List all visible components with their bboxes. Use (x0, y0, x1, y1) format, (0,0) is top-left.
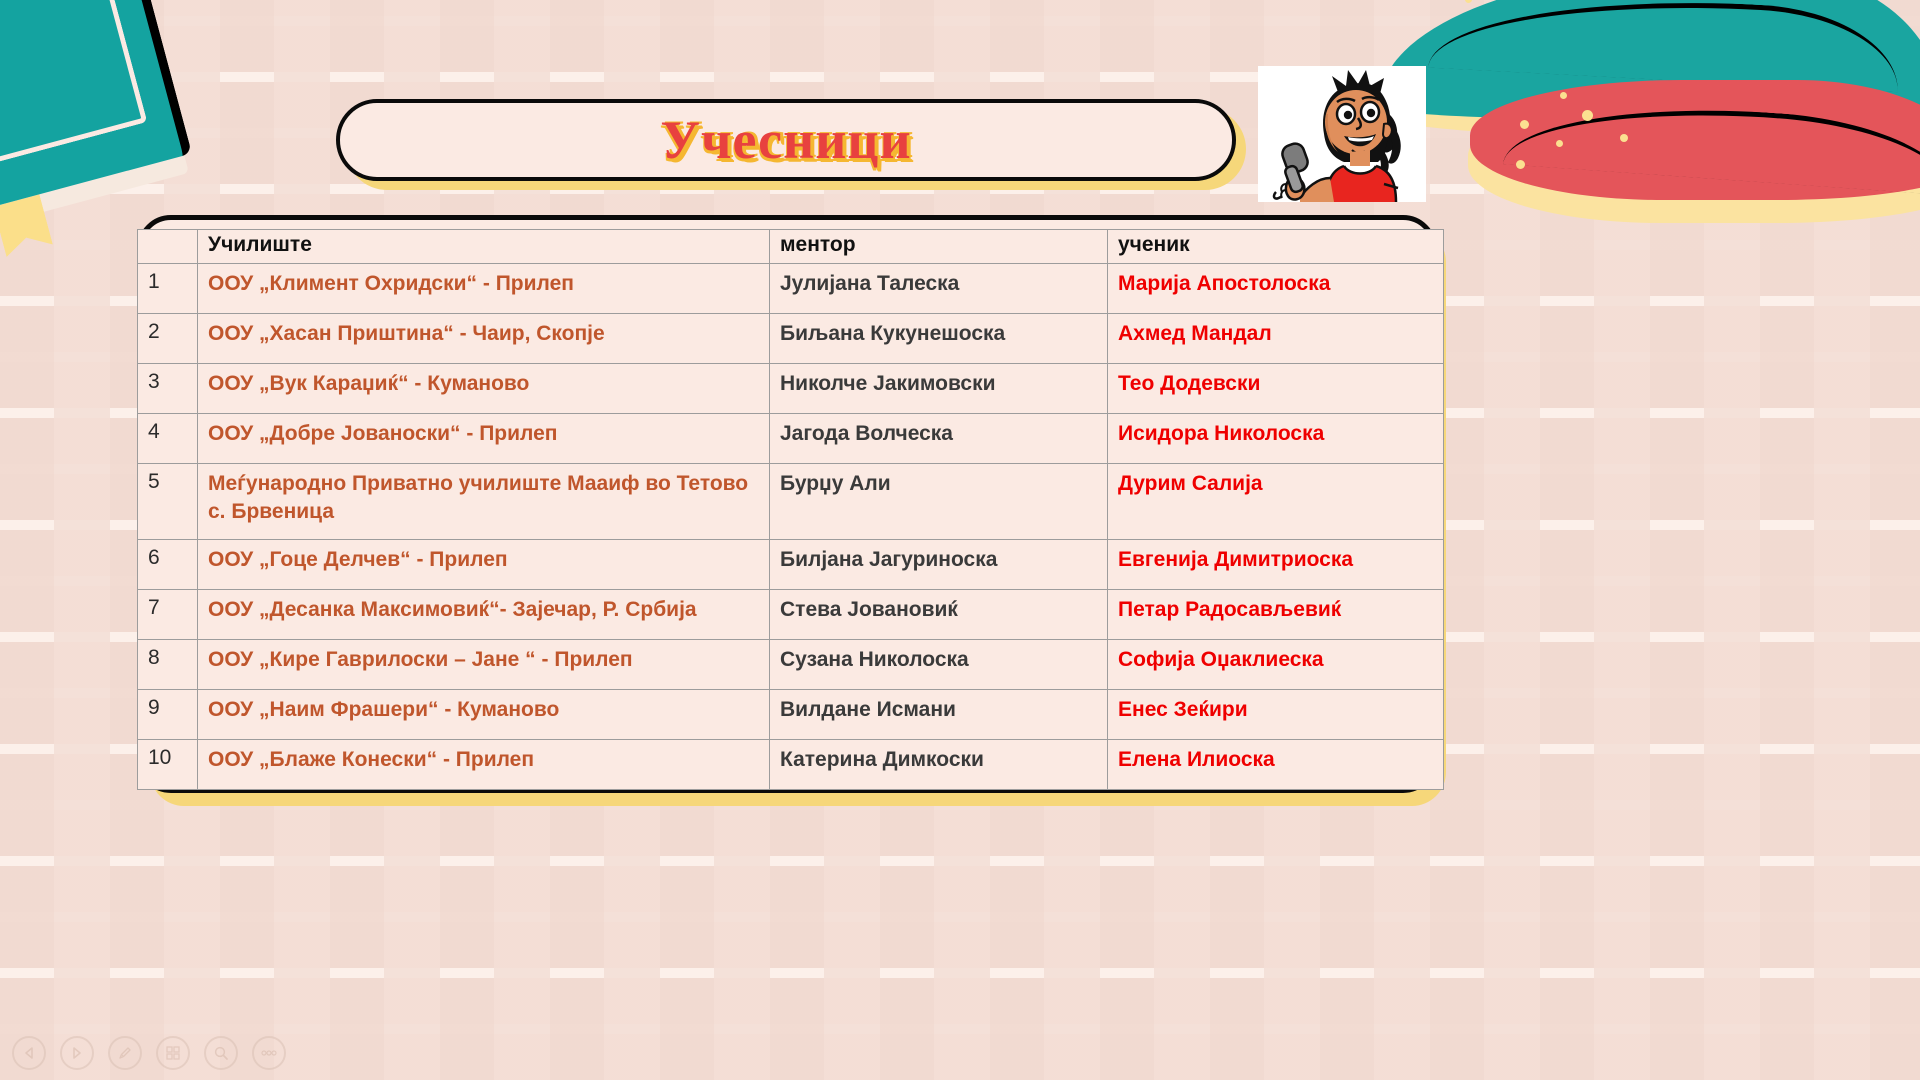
cell-student: Марија Апостолоска (1108, 264, 1444, 314)
column-header-mentor: ментор (770, 230, 1108, 264)
cell-index: 8 (138, 640, 198, 690)
confetti-dot (1520, 120, 1529, 129)
boy-with-microphone-illustration (1258, 66, 1426, 202)
table-row: 4 ООУ „Добре Јованоски“ - Прилеп Јагода … (138, 414, 1444, 464)
confetti-dot (1516, 160, 1525, 169)
cell-student: Тео Додевски (1108, 364, 1444, 414)
presentation-slide: Учесници Училиште ментор ученик 1 ООУ „К… (0, 0, 1920, 1080)
cell-student: Ахмед Мандал (1108, 314, 1444, 364)
cell-student: Енес Зеќири (1108, 690, 1444, 740)
confetti-dot (1465, 0, 1472, 3)
column-header-index (138, 230, 198, 264)
table-row: 10 ООУ „Блаже Конески“ - Прилеп Катерина… (138, 740, 1444, 790)
cell-index: 1 (138, 264, 198, 314)
confetti-dot (1560, 92, 1567, 99)
cell-school: ООУ „Хасан Приштина“ - Чаир, Скопје (198, 314, 770, 364)
slideshow-toolbar (12, 1036, 286, 1070)
confetti-dot (1556, 140, 1563, 147)
cell-mentor: Јулијана Талеска (770, 264, 1108, 314)
cell-mentor: Бурџу Али (770, 464, 1108, 540)
cell-school: ООУ „Вук Караџиќ“ - Куманово (198, 364, 770, 414)
cell-index: 10 (138, 740, 198, 790)
cell-index: 3 (138, 364, 198, 414)
cell-mentor: Николче Јакимовски (770, 364, 1108, 414)
cell-student: Дурим Салија (1108, 464, 1444, 540)
cell-school: Меѓународно Приватно училиште Мааиф во Т… (198, 464, 770, 540)
cell-index: 2 (138, 314, 198, 364)
previous-slide-button[interactable] (12, 1036, 46, 1070)
cell-mentor: Катерина Димкоски (770, 740, 1108, 790)
cell-student: Елена Илиоска (1108, 740, 1444, 790)
table-row: 2 ООУ „Хасан Приштина“ - Чаир, Скопје Би… (138, 314, 1444, 364)
cell-school: ООУ „Блаже Конески“ - Прилеп (198, 740, 770, 790)
table-row: 3 ООУ „Вук Караџиќ“ - Куманово Николче Ј… (138, 364, 1444, 414)
slide-overview-button[interactable] (156, 1036, 190, 1070)
cell-index: 7 (138, 590, 198, 640)
next-slide-button[interactable] (60, 1036, 94, 1070)
zoom-button[interactable] (204, 1036, 238, 1070)
cell-school: ООУ „Наим Фрашери“ - Куманово (198, 690, 770, 740)
cell-student: Софија Оџаклиеска (1108, 640, 1444, 690)
more-options-button[interactable] (252, 1036, 286, 1070)
cell-school: ООУ „Десанка Максимовиќ“- Зајечар, Р. Ср… (198, 590, 770, 640)
magnifier-icon (213, 1045, 229, 1061)
cell-mentor: Стева Јовановиќ (770, 590, 1108, 640)
cell-student: Петар Радосављевиќ (1108, 590, 1444, 640)
table-header-row: Училиште ментор ученик (138, 230, 1444, 264)
table-row: 8 ООУ „Кире Гаврилоски – Јане “ - Прилеп… (138, 640, 1444, 690)
table-row: 1 ООУ „Климент Охридски“ - Прилеп Јулија… (138, 264, 1444, 314)
cell-index: 6 (138, 540, 198, 590)
cell-mentor: Билјана Јагуриноска (770, 540, 1108, 590)
title-box: Учесници (336, 99, 1236, 181)
triangle-right-icon (70, 1046, 84, 1060)
column-header-school: Училиште (198, 230, 770, 264)
ellipsis-icon (260, 1049, 278, 1057)
cell-mentor: Вилдане Исмани (770, 690, 1108, 740)
cell-school: ООУ „Добре Јованоски“ - Прилеп (198, 414, 770, 464)
cell-index: 9 (138, 690, 198, 740)
page-title: Учесници (660, 109, 911, 171)
cell-student: Евгенија Димитриоска (1108, 540, 1444, 590)
cell-student: Исидора Николоска (1108, 414, 1444, 464)
pen-tool-button[interactable] (108, 1036, 142, 1070)
cell-school: ООУ „Гоце Делчев“ - Прилеп (198, 540, 770, 590)
cell-school: ООУ „Климент Охридски“ - Прилеп (198, 264, 770, 314)
column-header-student: ученик (1108, 230, 1444, 264)
cell-index: 5 (138, 464, 198, 540)
confetti-dot (1582, 110, 1593, 121)
triangle-left-icon (22, 1046, 36, 1060)
grid-icon (165, 1045, 181, 1061)
confetti-dot (1620, 134, 1628, 142)
cell-mentor: Биљана Кукунешоска (770, 314, 1108, 364)
book-inner-border (0, 0, 147, 171)
table-row: 7 ООУ „Десанка Максимовиќ“- Зајечар, Р. … (138, 590, 1444, 640)
table-row: 5 Меѓународно Приватно училиште Мааиф во… (138, 464, 1444, 540)
table-row: 9 ООУ „Наим Фрашери“ - Куманово Вилдане … (138, 690, 1444, 740)
cell-index: 4 (138, 414, 198, 464)
participants-table: Училиште ментор ученик 1 ООУ „Климент Ох… (137, 229, 1444, 790)
pen-icon (117, 1045, 133, 1061)
cell-mentor: Сузана Николоска (770, 640, 1108, 690)
table-row: 6 ООУ „Гоце Делчев“ - Прилеп Билјана Јаг… (138, 540, 1444, 590)
cell-mentor: Јагода Волческа (770, 414, 1108, 464)
cell-school: ООУ „Кире Гаврилоски – Јане “ - Прилеп (198, 640, 770, 690)
